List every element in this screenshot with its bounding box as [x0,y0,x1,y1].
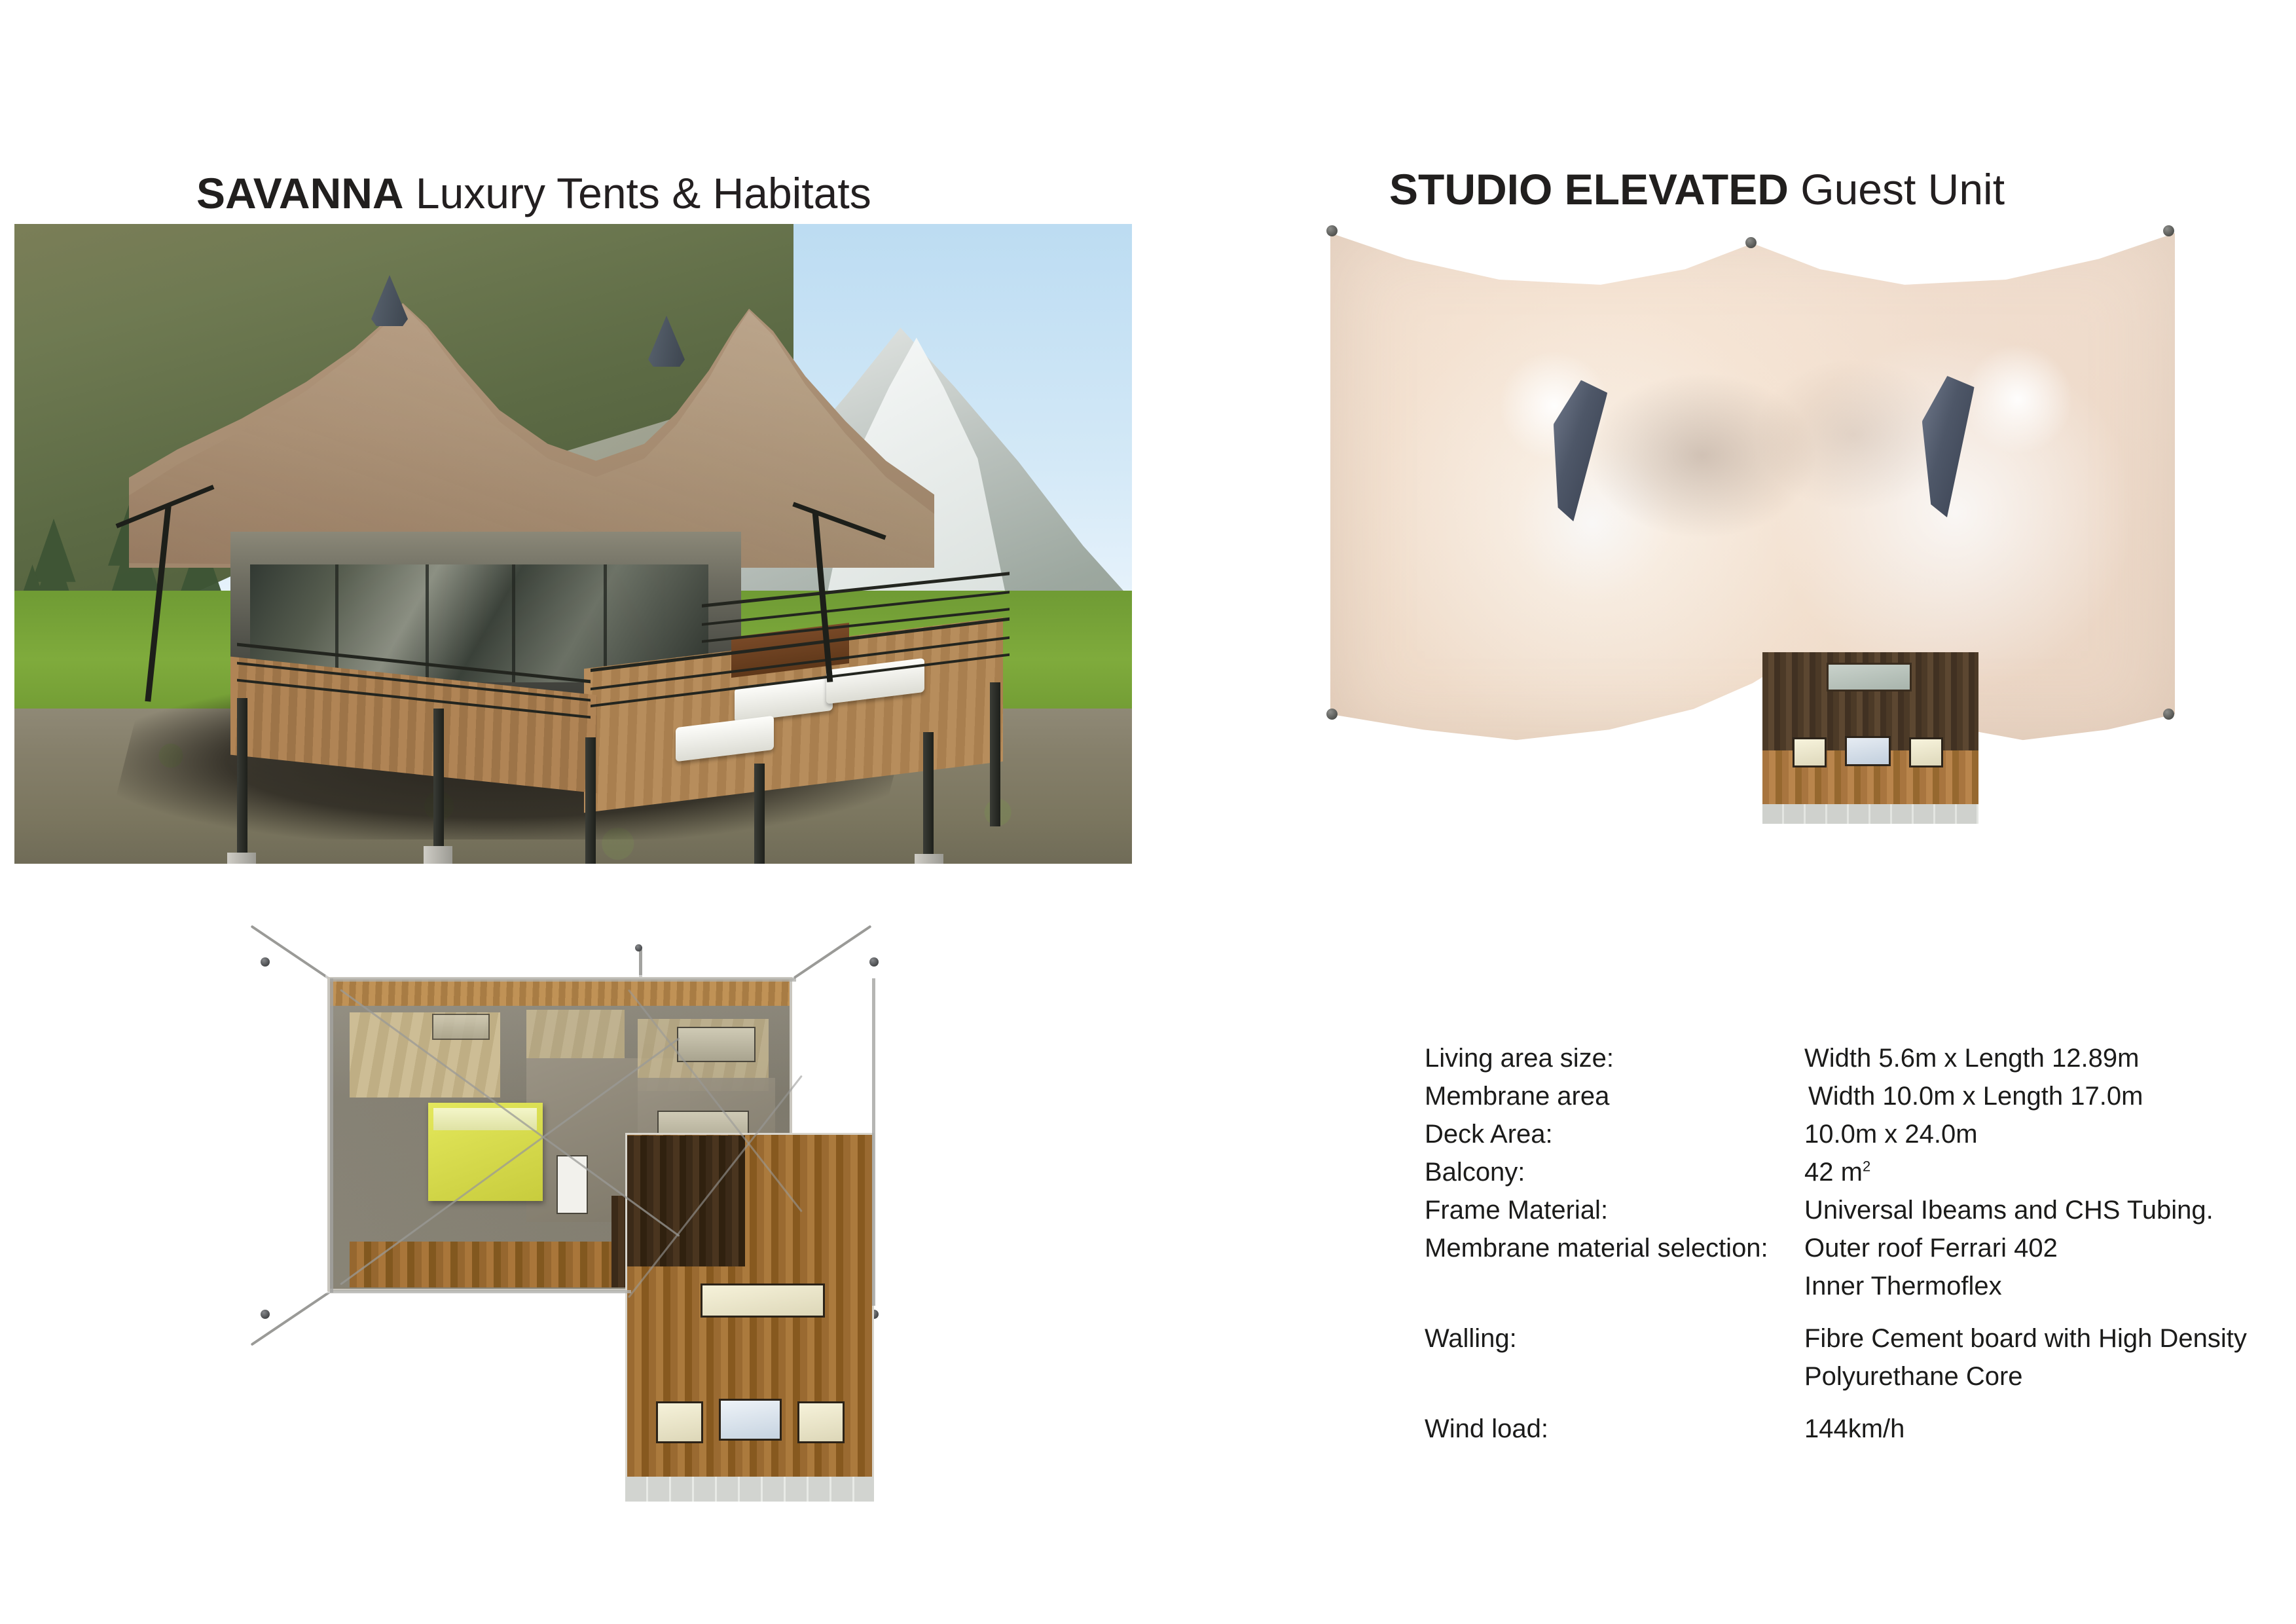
left-title-brand: SAVANNA [196,169,404,217]
daybed [701,1283,825,1318]
spec-value: Polyurethane Core [1804,1363,2269,1390]
spec-row: Membrane areaWidth 10.0m x Length 17.0m [1425,1083,2269,1109]
spec-label: Deck Area: [1425,1121,1804,1147]
canopy-shading-overlay [1330,228,2175,745]
canopy-anchor-top-left [1326,225,1338,236]
specifications-table: Living area size:Width 5.6m x Length 12.… [1425,1045,2269,1454]
spec-label: Membrane material selection: [1425,1235,1804,1261]
deck-chair-right [1909,737,1943,767]
canopy-highlight-right [1959,341,2077,458]
spec-row: Wind load:144km/h [1425,1416,2269,1442]
spec-value: Inner Thermoflex [1804,1273,2269,1299]
canopy-anchor-top-mid [1745,237,1757,248]
canopy-anchor-top-right [2163,225,2174,236]
guy-anchor-bl [261,1310,270,1319]
spec-row: Balcony:42 m2 [1425,1159,2269,1185]
spec-row-gap [1425,1401,2269,1416]
steel-post-3 [585,737,596,864]
guy-anchor-tl [261,957,270,967]
bed-main [428,1103,543,1201]
steel-post-4 [754,764,765,864]
spec-row: Inner Thermoflex [1425,1273,2269,1299]
spec-value: Outer roof Ferrari 402 [1804,1235,2269,1261]
spec-label: Frame Material: [1425,1197,1804,1223]
deck-edge-tiles [1762,804,1978,824]
right-title-model: STUDIO ELEVATED [1389,165,1789,213]
perimeter-beam-bottom [330,1290,631,1293]
brochure-page: SAVANNA Luxury Tents & Habitats STUDIO E… [0,0,2296,1624]
spec-value: Universal Ibeams and CHS Tubing. [1804,1197,2269,1223]
spec-row: Membrane material selection:Outer roof F… [1425,1235,2269,1261]
center-mast-top [639,950,642,980]
guest-unit-deck [1762,652,1978,824]
spec-row: Frame Material:Universal Ibeams and CHS … [1425,1197,2269,1223]
spec-label: Balcony: [1425,1159,1804,1185]
deck-table-center [1845,736,1891,766]
left-title-tagline: Luxury Tents & Habitats [404,169,871,217]
spec-value: Width 10.0m x Length 17.0m [1804,1083,2269,1109]
ceiling-timber-strip [330,980,790,1006]
concrete-footing-1 [227,853,256,864]
spec-label: Membrane area [1425,1083,1804,1109]
deck-chair-c [797,1401,845,1443]
deck-wing-edge-tiles [625,1477,874,1502]
canopy-anchor-bottom-right [2163,709,2174,720]
canopy-anchor-bottom-left [1326,709,1338,720]
steel-post-5 [923,732,934,864]
perimeter-beam-top [330,978,796,982]
deck-chair-left [1793,737,1827,767]
spec-value: 42 m2 [1804,1159,2269,1185]
studio-floorplan-render [249,917,1008,1529]
deck-window [1827,663,1912,692]
spec-label: Walling: [1425,1325,1804,1352]
left-panel-title: SAVANNA Luxury Tents & Habitats [196,172,871,215]
spec-row: Living area size:Width 5.6m x Length 12.… [1425,1045,2269,1071]
steel-post-2 [433,709,444,864]
right-title-type: Guest Unit [1789,165,2005,213]
right-panel-title: STUDIO ELEVATED Guest Unit [1389,168,2005,211]
bed-pillows [433,1108,537,1130]
aircon-unit [432,1014,490,1040]
deck-chair-a [656,1401,703,1443]
deck-table-b [719,1399,782,1441]
guy-wire-tl-out [251,925,334,982]
spec-row: Polyurethane Core [1425,1363,2269,1390]
steel-post-6 [990,682,1000,826]
spec-label: Wind load: [1425,1416,1804,1442]
spec-value: 10.0m x 24.0m [1804,1121,2269,1147]
spec-value: Fibre Cement board with High Density [1804,1325,2269,1352]
deck-wing-shadow [627,1135,745,1266]
perimeter-beam-left [330,978,333,1293]
concrete-footing-2 [424,846,452,864]
spec-row-gap [1425,1311,2269,1325]
perimeter-beam-right [872,978,875,1306]
spec-value: Width 5.6m x Length 12.89m [1804,1045,2269,1071]
membrane-canopy-render [1330,228,2208,863]
spec-label: Living area size: [1425,1045,1804,1071]
guy-wire-tr-out [789,925,872,982]
fridge-unit [556,1155,588,1214]
spec-row: Deck Area:10.0m x 24.0m [1425,1121,2269,1147]
savanna-tent-photo [14,224,1132,864]
center-mast-cap [635,944,642,951]
guy-anchor-tr [869,957,879,967]
spec-value: 144km/h [1804,1416,2269,1442]
spec-row: Walling:Fibre Cement board with High Den… [1425,1325,2269,1352]
wardrobe-unit [677,1027,756,1062]
steel-post-1 [237,698,247,862]
concrete-footing-3 [915,854,943,864]
